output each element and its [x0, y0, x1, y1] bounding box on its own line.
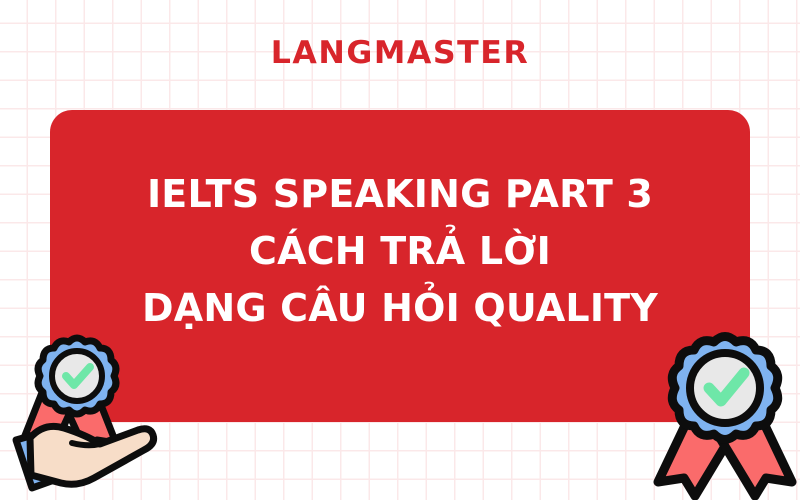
title-line-3: DẠNG CÂU HỎI QUALITY [50, 280, 750, 337]
page-title: IELTS SPEAKING PART 3 CÁCH TRẢ LỜI DẠNG … [50, 166, 750, 337]
open-hand-icon [16, 426, 154, 488]
title-line-2: CÁCH TRẢ LỜI [50, 223, 750, 280]
langmaster-logo: LANGMASTER [0, 38, 800, 69]
poster-canvas: LANGMASTER IELTS SPEAKING PART 3 CÁCH TR… [0, 0, 800, 500]
award-badge-illustration [648, 330, 800, 500]
hand-holding-award-badge-illustration [0, 330, 200, 500]
award-badge-right-icon [658, 337, 792, 497]
title-line-1: IELTS SPEAKING PART 3 [50, 166, 750, 223]
